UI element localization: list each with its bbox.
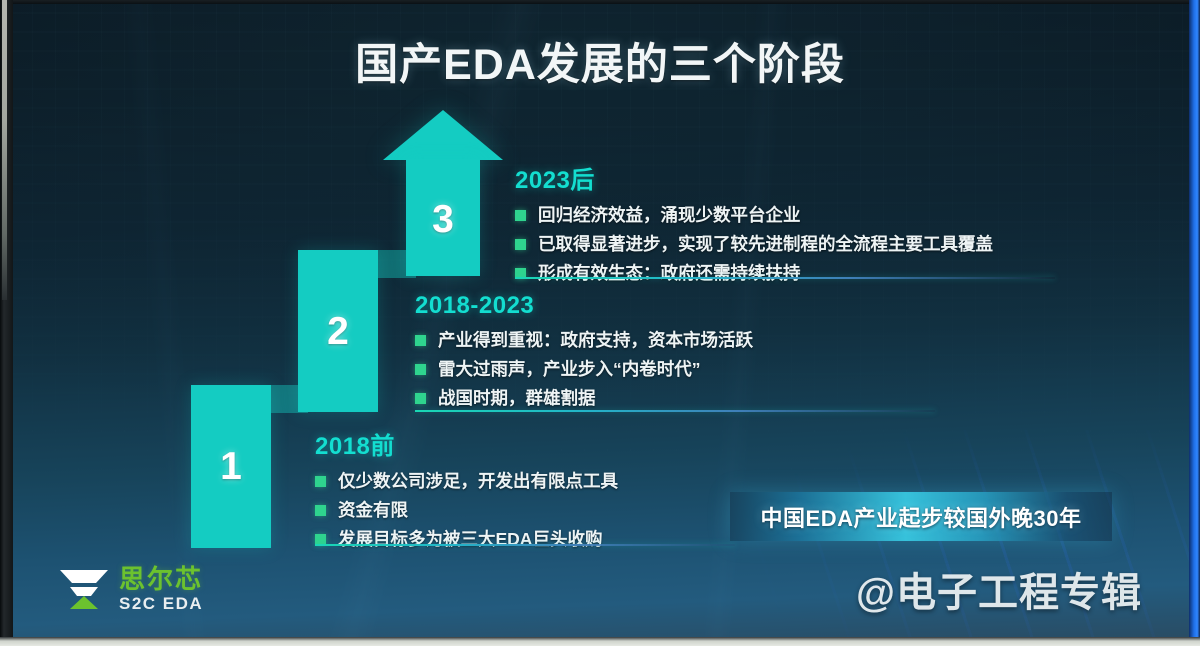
slide-canvas: 国产EDA发展的三个阶段 1 2 3 2023后 回归经济效益，涌现少数平台企业	[0, 0, 1200, 646]
list-item: 回归经济效益，涌现少数平台企业	[515, 205, 1055, 227]
list-item: 产业得到重视：政府支持，资本市场活跃	[415, 330, 955, 352]
bullet-square-icon	[515, 210, 526, 221]
stage-bar-3: 3	[406, 159, 480, 276]
bullet-square-icon	[415, 393, 426, 404]
s2c-logo-svg	[58, 566, 110, 612]
stage-divider-1	[315, 544, 735, 546]
bullet-square-icon	[415, 364, 426, 375]
stage-section-2: 2018-2023 产业得到重视：政府支持，资本市场活跃 雷大过雨声，产业步入“…	[415, 292, 955, 417]
list-item: 战国时期，群雄割据	[415, 388, 955, 410]
bullet-square-icon	[515, 239, 526, 250]
company-logo: 思尔芯 S2C EDA	[58, 566, 203, 612]
watermark: @电子工程专辑	[856, 560, 1142, 618]
stage-bullet-list-3: 回归经济效益，涌现少数平台企业 已取得显著进步，实现了较先进制程的全流程主要工具…	[515, 205, 1055, 285]
bullet-text: 已取得显著进步，实现了较先进制程的全流程主要工具覆盖	[538, 234, 993, 256]
stage-divider-2	[415, 410, 935, 412]
stage-heading-1: 2018前	[315, 426, 855, 461]
list-item: 雷大过雨声，产业步入“内卷时代”	[415, 359, 955, 381]
bullet-square-icon	[315, 476, 326, 487]
stage-heading-3: 2023后	[515, 160, 1055, 195]
list-item: 形成有效生态：政府还需持续扶持	[515, 263, 1055, 285]
stage-bar-2: 2	[298, 250, 378, 412]
stage-number-2: 2	[298, 310, 378, 354]
bullet-text: 资金有限	[338, 500, 408, 522]
bullet-square-icon	[415, 335, 426, 346]
highlight-callout: 中国EDA产业起步较国外晚30年	[730, 492, 1112, 541]
stage-bullet-list-2: 产业得到重视：政府支持，资本市场活跃 雷大过雨声，产业步入“内卷时代” 战国时期…	[415, 330, 955, 410]
bullet-text: 回归经济效益，涌现少数平台企业	[538, 205, 801, 227]
stage-number-1: 1	[191, 445, 271, 489]
bullet-text: 发展目标多为被三大EDA巨头收购	[338, 529, 602, 551]
growth-arrow-head	[383, 110, 503, 160]
stage-divider-3	[515, 277, 1055, 279]
list-item: 仅少数公司涉足，开发出有限点工具	[315, 471, 855, 493]
stage-heading-2: 2018-2023	[415, 292, 955, 320]
s2c-logo-icon	[58, 566, 110, 612]
screen-bezel-left-highlight	[2, 0, 7, 300]
screen-bezel-top	[0, 0, 1200, 4]
logo-wordmark: 思尔芯 S2C EDA	[119, 566, 203, 612]
bullet-text: 产业得到重视：政府支持，资本市场活跃	[438, 330, 753, 352]
list-item: 已取得显著进步，实现了较先进制程的全流程主要工具覆盖	[515, 234, 1055, 256]
screen-bezel-right	[1189, 0, 1200, 646]
bullet-square-icon	[315, 505, 326, 516]
logo-name-cn: 思尔芯	[119, 566, 203, 592]
bullet-text: 仅少数公司涉足，开发出有限点工具	[338, 471, 618, 493]
stage-section-3: 2023后 回归经济效益，涌现少数平台企业 已取得显著进步，实现了较先进制程的全…	[515, 160, 1055, 292]
stage-number-3: 3	[406, 198, 480, 242]
bullet-text: 形成有效生态：政府还需持续扶持	[538, 263, 801, 285]
screen-bezel-bottom	[0, 637, 1200, 646]
logo-name-en: S2C EDA	[119, 595, 203, 612]
bullet-text: 战国时期，群雄割据	[438, 388, 596, 410]
callout-text: 中国EDA产业起步较国外晚30年	[761, 501, 1082, 533]
bullet-text: 雷大过雨声，产业步入“内卷时代”	[438, 359, 701, 381]
stage-bar-1: 1	[191, 385, 271, 548]
